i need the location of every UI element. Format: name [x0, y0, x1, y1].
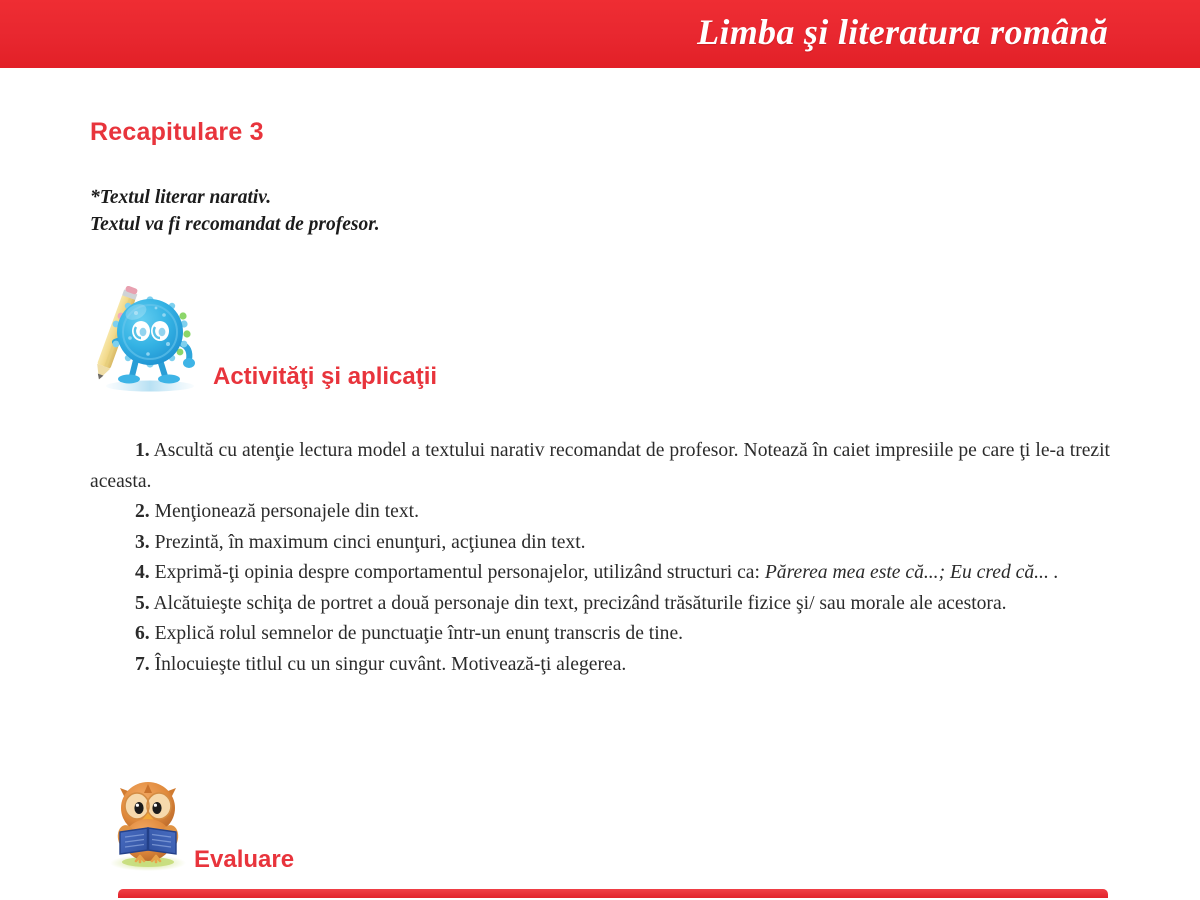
exercise-number: 3.: [135, 532, 150, 553]
exercise-list: 1. Ascultă cu atenţie lectura model a te…: [90, 436, 1110, 680]
exercise-text: Prezintă, în maximum cinci enunţuri, acţ…: [150, 532, 586, 553]
page-header-band: Limba şi literatura română: [0, 0, 1200, 68]
exercise-number: 5.: [135, 593, 150, 614]
page-content: Recapitulare 3 *Textul literar narativ. …: [0, 68, 1200, 900]
blue-spiky-character-with-pencil-icon: [88, 286, 218, 394]
exercise-number: 6.: [135, 623, 150, 644]
list-item: 2. Menţionează personajele din text.: [90, 497, 1110, 528]
exercise-text: Alcătuieşte schiţa de portret a două per…: [150, 593, 1007, 614]
exercise-italic: Părerea mea este că...; Eu cred că... .: [765, 562, 1059, 583]
section-heading: Recapitulare 3: [90, 118, 264, 147]
exercise-text: Menţionează personajele din text.: [150, 501, 419, 522]
page-title: Limba şi literatura română: [697, 11, 1108, 53]
exercise-text: Ascultă cu atenţie lectura model a textu…: [90, 440, 1110, 492]
rubric-label-activities: Activităţi şi aplicaţii: [213, 363, 437, 391]
bottom-red-rule: [118, 889, 1108, 898]
list-item: 7. Înlocuieşte titlul cu un singur cuvân…: [90, 650, 1110, 681]
list-item: 5. Alcătuieşte schiţa de portret a două …: [90, 589, 1110, 620]
list-item: 1. Ascultă cu atenţie lectura model a te…: [90, 436, 1110, 497]
exercise-number: 4.: [135, 562, 150, 583]
list-item: 4. Exprimă-ţi opinia despre comportament…: [90, 558, 1110, 589]
exercise-number: 7.: [135, 654, 150, 675]
exercise-text: Explică rolul semnelor de punctuaţie înt…: [150, 623, 683, 644]
list-item: 6. Explică rolul semnelor de punctuaţie …: [90, 619, 1110, 650]
subtitle-line-2: Textul va fi recomandat de profesor.: [90, 211, 380, 238]
exercise-text: Exprimă-ţi opinia despre comportamentul …: [150, 562, 765, 583]
owl-reading-book-icon: [98, 768, 198, 873]
rubric-activities: Activităţi şi aplicaţii: [88, 286, 488, 396]
rubric-label-evaluation: Evaluare: [194, 846, 294, 874]
exercise-text: Înlocuieşte titlul cu un singur cuvânt. …: [150, 654, 627, 675]
subtitle-line-1: *Textul literar narativ.: [90, 184, 380, 211]
exercise-number: 2.: [135, 501, 150, 522]
list-item: 3. Prezintă, în maximum cinci enunţuri, …: [90, 528, 1110, 559]
section-subtitle: *Textul literar narativ. Textul va fi re…: [90, 184, 380, 238]
exercise-number: 1.: [135, 440, 150, 461]
rubric-evaluation: Evaluare: [98, 768, 498, 878]
